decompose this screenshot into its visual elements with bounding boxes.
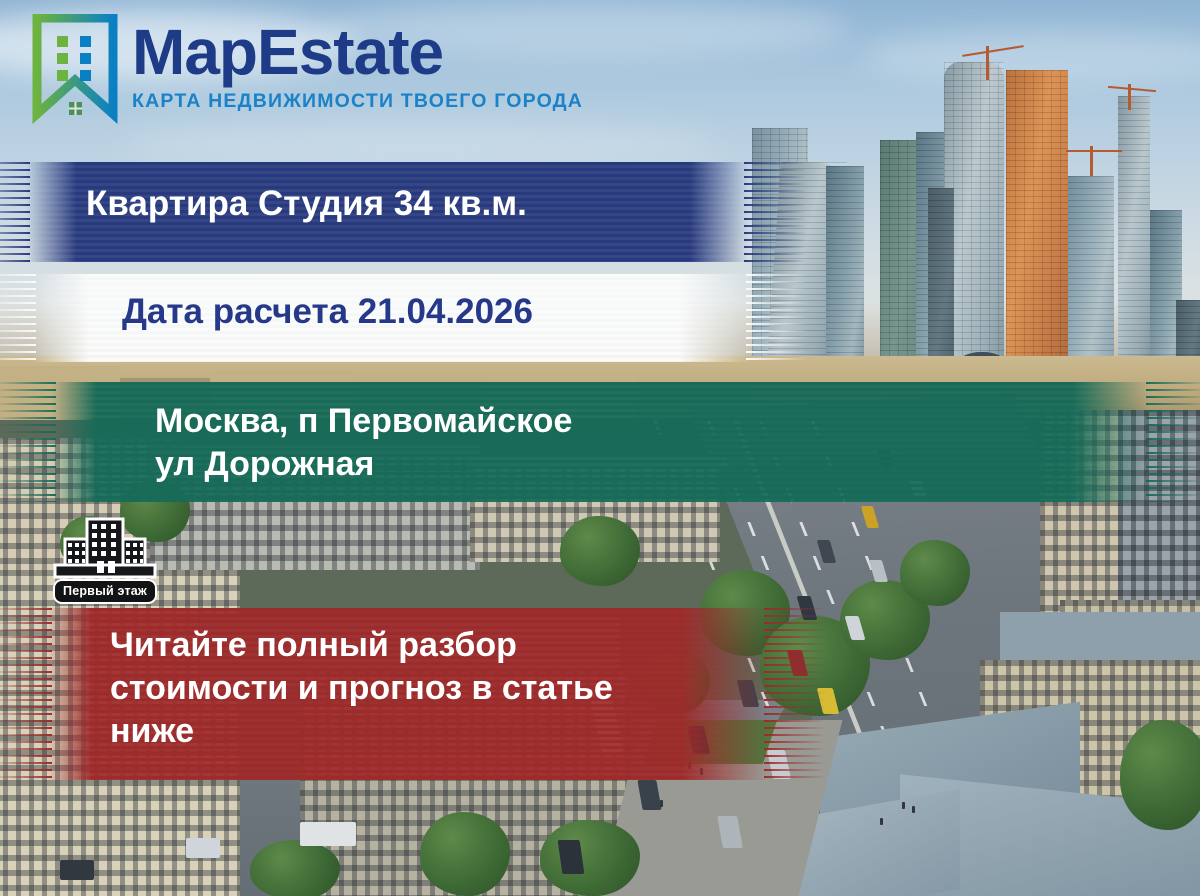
brush-edge-right — [744, 162, 806, 262]
brush-edge-left — [0, 162, 30, 262]
brand-tagline: КАРТА НЕДВИЖИМОСТИ ТВОЕГО ГОРОДА — [132, 90, 583, 113]
roof — [1000, 612, 1200, 662]
car — [60, 860, 94, 880]
property-type-text: Квартира Студия 34 кв.м. — [86, 182, 527, 226]
pedestrian — [902, 802, 905, 809]
crane-icon — [1066, 150, 1122, 152]
tree — [420, 812, 510, 896]
watermark-label: Первый этаж — [53, 579, 157, 604]
call-to-action-text: Читайте полный разбор стоимости и прогно… — [110, 624, 613, 752]
watermark: Первый этаж — [53, 513, 157, 604]
banner-calculation-date: Дата расчета 21.04.2026 — [32, 274, 750, 362]
pedestrian — [912, 806, 915, 813]
tree — [1120, 720, 1200, 830]
brand-text: MapEstate КАРТА НЕДВИЖИМОСТИ ТВОЕГО ГОРО… — [132, 14, 583, 113]
bus — [300, 822, 356, 846]
brush-edge-left — [0, 608, 52, 780]
pedestrian — [880, 818, 883, 825]
promo-poster: MapEstate КАРТА НЕДВИЖИМОСТИ ТВОЕГО ГОРО… — [0, 0, 1200, 896]
brush-edge-right — [1146, 382, 1200, 502]
tree — [900, 540, 970, 606]
brand-logo[interactable]: MapEstate КАРТА НЕДВИЖИМОСТИ ТВОЕГО ГОРО… — [32, 14, 583, 124]
cloud — [120, 120, 720, 166]
tree — [540, 820, 640, 896]
calculation-date-text: Дата расчета 21.04.2026 — [122, 290, 533, 334]
brush-edge-right — [746, 274, 808, 362]
car — [558, 840, 585, 874]
brush-edge-right — [764, 608, 826, 780]
brush-edge-left — [0, 274, 36, 362]
car — [186, 838, 220, 858]
banner-property-type: Квартира Студия 34 кв.м. — [26, 162, 748, 262]
tree — [560, 516, 640, 586]
bookmark-building-icon — [32, 14, 118, 124]
brush-edge-left — [0, 382, 56, 502]
banner-location: Москва, п Первомайское ул Дорожная — [52, 382, 1150, 502]
pedestrian — [660, 800, 663, 807]
building-icon — [53, 513, 157, 581]
location-text: Москва, п Первомайское ул Дорожная — [155, 400, 572, 486]
brand-name: MapEstate — [132, 20, 583, 84]
tree — [250, 840, 340, 896]
banner-call-to-action: Читайте полный разбор стоимости и прогно… — [48, 608, 768, 780]
